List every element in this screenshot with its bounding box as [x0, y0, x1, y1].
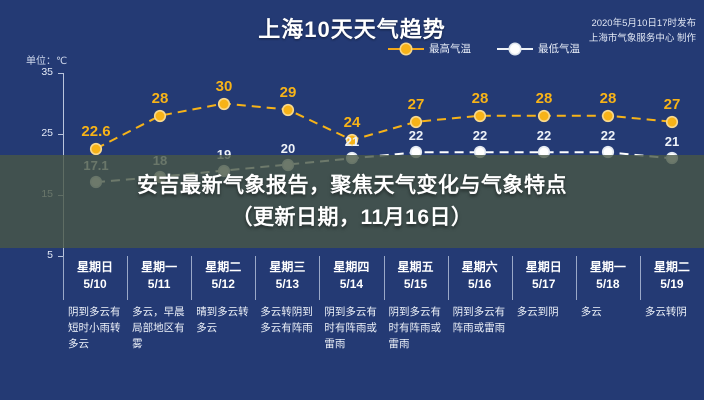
legend-item-high: 最高气温 — [388, 41, 471, 56]
low-temp-label: 22 — [601, 128, 615, 143]
high-temp-label: 24 — [344, 114, 361, 131]
forecast-date: 5/14 — [319, 277, 383, 291]
forecast-date: 5/12 — [191, 277, 255, 291]
forecast-description: 阴到多云有短时小雨转多云 — [68, 304, 123, 352]
high-temp-point — [668, 117, 677, 126]
forecast-description: 多云 — [581, 304, 636, 320]
legend-low-label: 最低气温 — [538, 41, 580, 56]
low-temp-label: 22 — [409, 128, 423, 143]
forecast-date: 5/17 — [512, 277, 576, 291]
article-headline-overlay: 安吉最新气象报告，聚焦天气变化与气象特点 （更新日期，11月16日） — [0, 155, 704, 248]
forecast-date: 5/15 — [384, 277, 448, 291]
high-temp-point — [476, 111, 485, 120]
forecast-date: 5/11 — [127, 277, 191, 291]
forecast-column[interactable]: 星期一5/11多云，早晨局部地区有雾 — [127, 250, 191, 400]
low-temp-label: 22 — [537, 128, 551, 143]
high-temp-point — [540, 111, 549, 120]
forecast-column[interactable]: 星期二5/12晴到多云转多云 — [191, 250, 255, 400]
high-temp-point — [92, 144, 101, 153]
forecast-description: 多云转阴 — [645, 304, 700, 320]
headline-line-1: 安吉最新气象报告，聚焦天气变化与气象特点 — [137, 171, 567, 201]
low-temp-label: 21 — [665, 134, 679, 149]
high-temp-label: 28 — [472, 90, 489, 107]
forecast-weekday: 星期六 — [448, 258, 512, 275]
daily-forecast-table: 星期日5/10阴到多云有短时小雨转多云星期一5/11多云，早晨局部地区有雾星期二… — [0, 250, 704, 400]
legend-item-low: 最低气温 — [497, 41, 580, 56]
legend-high-label: 最高气温 — [429, 41, 471, 56]
high-temp-point — [604, 111, 613, 120]
high-temp-label: 27 — [664, 96, 681, 113]
forecast-weekday: 星期五 — [384, 258, 448, 275]
high-temp-label: 27 — [408, 96, 425, 113]
forecast-column[interactable]: 星期五5/15阴到多云有时有阵雨或雷雨 — [384, 250, 448, 400]
forecast-column[interactable]: 星期四5/14阴到多云有时有阵雨或雷雨 — [319, 250, 383, 400]
chart-legend: 最高气温 最低气温 — [388, 41, 580, 56]
forecast-description: 阴到多云有时有阵雨或雷雨 — [324, 304, 379, 352]
forecast-weekday: 星期四 — [319, 258, 383, 275]
high-temp-label: 22.6 — [81, 123, 110, 140]
forecast-column[interactable]: 星期一5/18多云 — [576, 250, 640, 400]
forecast-date: 5/10 — [63, 277, 127, 291]
forecast-date: 5/13 — [255, 277, 319, 291]
high-temp-label: 28 — [536, 90, 553, 107]
legend-low-marker-icon — [497, 44, 533, 54]
forecast-column[interactable]: 星期三5/13多云转阴到多云有阵雨 — [255, 250, 319, 400]
forecast-column[interactable]: 星期二5/19多云转阴 — [640, 250, 704, 400]
high-temp-label: 28 — [600, 90, 617, 107]
forecast-date: 5/16 — [448, 277, 512, 291]
forecast-weekday: 星期一 — [127, 258, 191, 275]
weather-trend-infographic: 上海10天天气趋势 2020年5月10日17时发布 上海市气象服务中心 制作 单… — [0, 0, 704, 400]
low-temp-label: 20 — [281, 141, 295, 156]
forecast-date: 5/19 — [640, 277, 704, 291]
low-temp-label: 21 — [345, 134, 359, 149]
high-temp-point — [284, 105, 293, 114]
high-temp-label: 28 — [152, 90, 169, 107]
forecast-description: 晴到多云转多云 — [196, 304, 251, 336]
forecast-weekday: 星期三 — [255, 258, 319, 275]
forecast-weekday: 星期二 — [640, 258, 704, 275]
forecast-description: 多云，早晨局部地区有雾 — [132, 304, 187, 352]
forecast-column[interactable]: 星期六5/16阴到多云有阵雨或雷雨 — [448, 250, 512, 400]
forecast-description: 多云转阴到多云有阵雨 — [260, 304, 315, 336]
high-temp-label: 29 — [280, 84, 297, 101]
forecast-description: 多云到阴 — [517, 304, 572, 320]
forecast-weekday: 星期一 — [576, 258, 640, 275]
forecast-date: 5/18 — [576, 277, 640, 291]
forecast-description: 阴到多云有阵雨或雷雨 — [453, 304, 508, 336]
forecast-weekday: 星期日 — [63, 258, 127, 275]
publish-time: 2020年5月10日17时发布 — [589, 16, 696, 31]
forecast-weekday: 星期二 — [191, 258, 255, 275]
high-temp-point — [156, 111, 165, 120]
forecast-column[interactable]: 星期日5/17多云到阴 — [512, 250, 576, 400]
headline-line-2: （更新日期，11月16日） — [231, 203, 472, 233]
high-temp-point — [412, 117, 421, 126]
low-temp-label: 22 — [473, 128, 487, 143]
forecast-weekday: 星期日 — [512, 258, 576, 275]
high-temp-point — [220, 99, 229, 108]
forecast-description: 阴到多云有时有阵雨或雷雨 — [389, 304, 444, 352]
high-temp-line — [96, 104, 672, 149]
forecast-column[interactable]: 星期日5/10阴到多云有短时小雨转多云 — [63, 250, 127, 400]
legend-high-marker-icon — [388, 44, 424, 54]
credit-block: 2020年5月10日17时发布 上海市气象服务中心 制作 — [589, 16, 696, 46]
producer: 上海市气象服务中心 制作 — [589, 31, 696, 46]
high-temp-label: 30 — [216, 78, 233, 95]
